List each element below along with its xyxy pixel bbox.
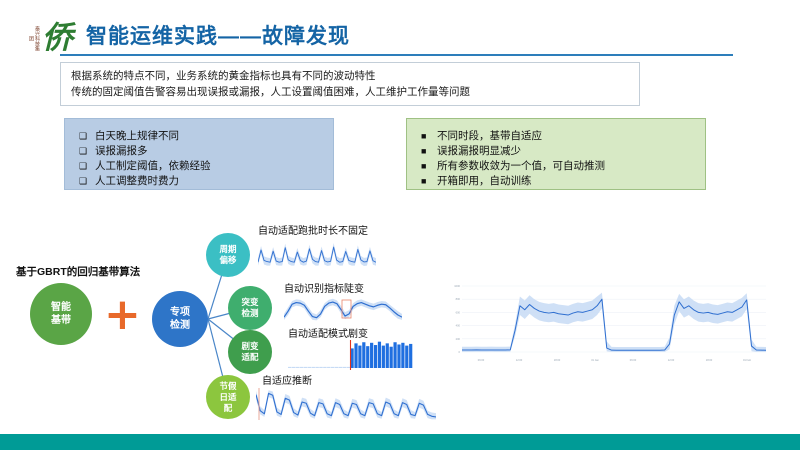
branch-label-line1: 节假 xyxy=(219,381,236,392)
mini-chart-regime-shift xyxy=(288,340,413,370)
caption-cycle-offset: 自动适配跑批时长不固定 xyxy=(258,222,368,237)
branch-label-line1: 剧变 xyxy=(241,341,258,352)
svg-text:06:00: 06:00 xyxy=(478,358,485,362)
svg-text:31 Jan: 31 Jan xyxy=(591,358,599,362)
svg-text:06:00: 06:00 xyxy=(630,358,637,362)
page-title: 智能运维实践——故障发现 xyxy=(86,20,350,50)
benefit-item-label: 开箱即用，自动训练 xyxy=(437,174,532,189)
problems-callout-box: ❑ 白天晚上规律不同 ❑ 误报漏报多 ❑ 人工制定阈值，依赖经验 ❑ 人工调整费… xyxy=(64,118,334,190)
branch-label-line2: 适配 xyxy=(241,352,258,363)
logo-seal-text: 泰兴科技集团 xyxy=(18,24,40,52)
benefit-item-label: 不同时段，基带自适应 xyxy=(437,129,542,144)
benefit-list-item: ■ 所有参数收敛为一个值，可自动推测 xyxy=(421,159,691,174)
mini-chart-holiday-adaptive xyxy=(256,388,436,424)
problem-item-label: 人工制定阈值，依赖经验 xyxy=(95,159,211,174)
node-baseband-line2: 基带 xyxy=(51,314,71,327)
node-baseband-line1: 智能 xyxy=(51,301,71,314)
svg-text:400: 400 xyxy=(456,324,461,328)
branch-label-line3: 配 xyxy=(224,403,233,414)
svg-text:18:00: 18:00 xyxy=(706,358,713,362)
mini-chart-sudden-change xyxy=(284,294,402,322)
problem-list-item: ❑ 人工制定阈值，依赖经验 xyxy=(79,159,319,174)
branch-label-line2: 检测 xyxy=(241,308,258,319)
problem-list-item: ❑ 人工调整费时费力 xyxy=(79,174,319,189)
branch-node-sudden-change: 突变 检测 xyxy=(228,286,272,330)
branch-label-line2: 日适 xyxy=(219,392,236,403)
intro-line-2: 传统的固定阈值告警容易出现误报或漏报，人工设置阈值困难，人工维护工作量等问题 xyxy=(71,84,629,100)
svg-text:800: 800 xyxy=(456,297,461,301)
branch-node-regime-shift: 剧变 适配 xyxy=(228,330,272,374)
node-special-detection: 专项 检测 xyxy=(152,291,208,347)
branch-node-holiday-adaptive: 节假 日适 配 xyxy=(206,375,250,419)
intro-line-1: 根据系统的特点不同，业务系统的黄金指标也具有不同的波动特性 xyxy=(71,68,629,84)
benefits-callout-box: ■ 不同时段，基带自适应 ■ 误报漏报明显减少 ■ 所有参数收敛为一个值，可自动… xyxy=(406,118,706,190)
branch-node-cycle-offset: 周期 偏移 xyxy=(206,233,250,277)
logo-brush-char: 侨 xyxy=(42,20,73,56)
svg-text:12:00: 12:00 xyxy=(516,358,523,362)
intro-textbox: 根据系统的特点不同，业务系统的黄金指标也具有不同的波动特性 传统的固定阈值告警容… xyxy=(60,62,640,106)
main-timeseries-chart: 06:0012:0018:0031 Jan06:0012:0018:0001 F… xyxy=(446,282,766,362)
company-logo: 泰兴科技集团 侨 xyxy=(18,18,80,58)
slide-canvas: 泰兴科技集团 侨 智能运维实践——故障发现 根据系统的特点不同，业务系统的黄金指… xyxy=(0,0,800,450)
problem-item-label: 白天晚上规律不同 xyxy=(95,129,179,144)
footer-bar xyxy=(0,434,800,450)
filled-square-bullet-icon: ■ xyxy=(421,144,437,159)
node-intelligent-baseband: 智能 基带 xyxy=(30,283,92,345)
svg-text:200: 200 xyxy=(456,337,461,341)
branch-label-line1: 周期 xyxy=(219,244,236,255)
benefit-list-item: ■ 不同时段，基带自适应 xyxy=(421,129,691,144)
caption-holiday-adaptive: 自适应推断 xyxy=(262,372,312,387)
branch-label-line2: 偏移 xyxy=(219,255,236,266)
svg-text:0: 0 xyxy=(459,350,461,354)
svg-text:1000: 1000 xyxy=(454,284,460,288)
node-detect-line2: 检测 xyxy=(170,319,190,332)
logo-brush-mark: 侨 xyxy=(42,18,80,58)
caption-regime-shift: 自动适配模式剧变 xyxy=(288,325,368,340)
problem-list-item: ❑ 误报漏报多 xyxy=(79,144,319,159)
algorithm-label: 基于GBRT的回归基带算法 xyxy=(16,264,140,279)
svg-text:01 Feb: 01 Feb xyxy=(743,358,752,362)
benefit-list-item: ■ 误报漏报明显减少 xyxy=(421,144,691,159)
filled-square-bullet-icon: ■ xyxy=(421,174,437,189)
benefit-list-item: ■ 开箱即用，自动训练 xyxy=(421,174,691,189)
problem-item-label: 误报漏报多 xyxy=(95,144,148,159)
svg-text:12:00: 12:00 xyxy=(668,358,675,362)
benefit-item-label: 所有参数收敛为一个值，可自动推测 xyxy=(437,159,605,174)
filled-square-bullet-icon: ■ xyxy=(421,159,437,174)
svg-text:600: 600 xyxy=(456,310,461,314)
branch-label-line1: 突变 xyxy=(241,297,258,308)
svg-text:18:00: 18:00 xyxy=(554,358,561,362)
plus-symbol-icon: + xyxy=(104,300,138,334)
title-underline-rule xyxy=(60,54,733,56)
problem-item-label: 人工调整费时费力 xyxy=(95,174,179,189)
node-detect-line1: 专项 xyxy=(170,306,190,319)
filled-square-bullet-icon: ■ xyxy=(421,129,437,144)
problem-list-item: ❑ 白天晚上规律不同 xyxy=(79,129,319,144)
hollow-square-bullet-icon: ❑ xyxy=(79,144,95,159)
hollow-square-bullet-icon: ❑ xyxy=(79,159,95,174)
hollow-square-bullet-icon: ❑ xyxy=(79,174,95,189)
caption-sudden-change: 自动识别指标陡变 xyxy=(284,280,364,295)
benefit-item-label: 误报漏报明显减少 xyxy=(437,144,521,159)
hollow-square-bullet-icon: ❑ xyxy=(79,129,95,144)
mini-chart-cycle-offset xyxy=(258,238,376,268)
